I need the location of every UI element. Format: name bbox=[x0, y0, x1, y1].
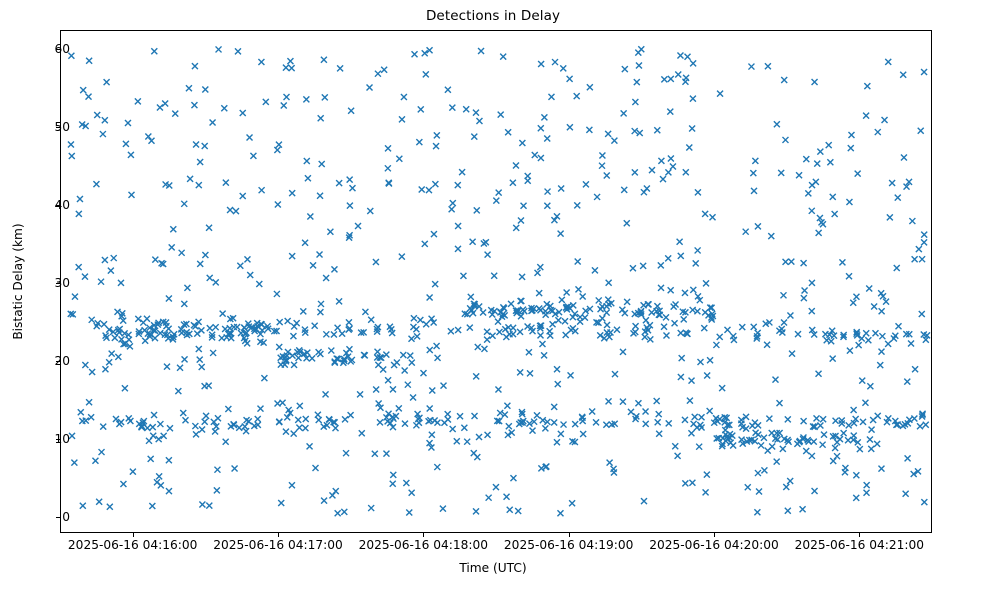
x-tick-label: 2025-06-16 04:17:00 bbox=[213, 538, 342, 552]
plot-axes bbox=[60, 30, 932, 533]
x-axis-label: Time (UTC) bbox=[0, 561, 986, 575]
y-tick-mark bbox=[56, 49, 60, 50]
y-tick-mark bbox=[56, 205, 60, 206]
x-tick-label: 2025-06-16 04:20:00 bbox=[649, 538, 778, 552]
x-tick-mark bbox=[423, 533, 424, 537]
y-tick-mark bbox=[56, 439, 60, 440]
x-tick-label: 2025-06-16 04:18:00 bbox=[359, 538, 488, 552]
y-tick-mark bbox=[56, 361, 60, 362]
y-tick-mark bbox=[56, 517, 60, 518]
x-tick-label: 2025-06-16 04:19:00 bbox=[504, 538, 633, 552]
x-tick-mark bbox=[714, 533, 715, 537]
x-tick-mark bbox=[569, 533, 570, 537]
x-tick-label: 2025-06-16 04:21:00 bbox=[795, 538, 924, 552]
y-tick-mark bbox=[56, 127, 60, 128]
y-tick-mark bbox=[56, 283, 60, 284]
y-axis-label: Bistatic Delay (km) bbox=[9, 30, 27, 533]
x-tick-label: 2025-06-16 04:16:00 bbox=[68, 538, 197, 552]
matplotlib-figure: Detections in Delay 2025-06-16 04:16:002… bbox=[0, 0, 986, 590]
y-tick-label: 0 bbox=[62, 510, 70, 524]
x-tick-mark bbox=[278, 533, 279, 537]
x-tick-mark bbox=[133, 533, 134, 537]
chart-title: Detections in Delay bbox=[0, 8, 986, 24]
x-tick-mark bbox=[859, 533, 860, 537]
scatter-plot-canvas bbox=[61, 31, 932, 533]
